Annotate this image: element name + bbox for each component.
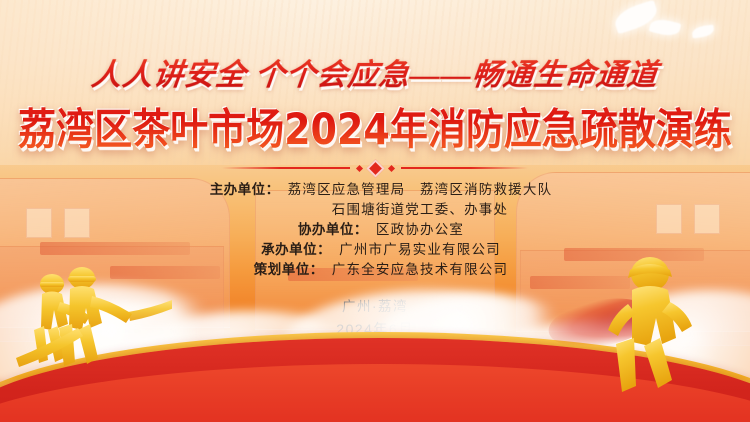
firefighter-hose-silhouette	[16, 262, 172, 386]
credit-label: 策划单位：	[242, 260, 324, 280]
divider-dot	[387, 164, 394, 171]
credit-value: 广东全安应急技术有限公司	[332, 260, 508, 280]
credit-value: 广州市广易实业有限公司	[339, 240, 501, 260]
divider-rule-left	[222, 167, 350, 169]
headline-block: 人人讲安全 个个会应急——畅通生命通道 荔湾区茶叶市场2024年消防应急疏散演练	[0, 0, 750, 153]
credit-label: 承办单位：	[249, 240, 331, 260]
credit-value-continued: 石围塘街道党工委、办事处	[332, 200, 508, 220]
credit-row-host: 主办单位： 荔湾区应急管理局 荔湾区消防救援大队	[0, 180, 750, 200]
divider-dot	[355, 164, 362, 171]
credit-value: 区政协办公室	[376, 220, 464, 240]
poster-subtitle: 人人讲安全 个个会应急——畅通生命通道	[0, 50, 750, 94]
poster-title: 荔湾区茶叶市场2024年消防应急疏散演练	[0, 95, 750, 157]
divider-rule-right	[401, 167, 529, 169]
poster-banner: 人人讲安全 个个会应急——畅通生命通道 荔湾区茶叶市场2024年消防应急疏散演练…	[0, 0, 750, 422]
credit-value: 荔湾区应急管理局 荔湾区消防救援大队	[288, 180, 553, 200]
firefighter-silhouette	[588, 252, 708, 398]
credit-row-host-continued: 主办单位： 石围塘街道党工委、办事处	[0, 200, 750, 220]
credit-row-coorganizer: 协办单位： 区政协办公室	[0, 220, 750, 240]
diamond-ornament-icon	[366, 159, 384, 177]
decorative-divider	[222, 160, 528, 176]
credit-label: 主办单位：	[198, 180, 280, 200]
credit-label: 协办单位：	[286, 220, 368, 240]
